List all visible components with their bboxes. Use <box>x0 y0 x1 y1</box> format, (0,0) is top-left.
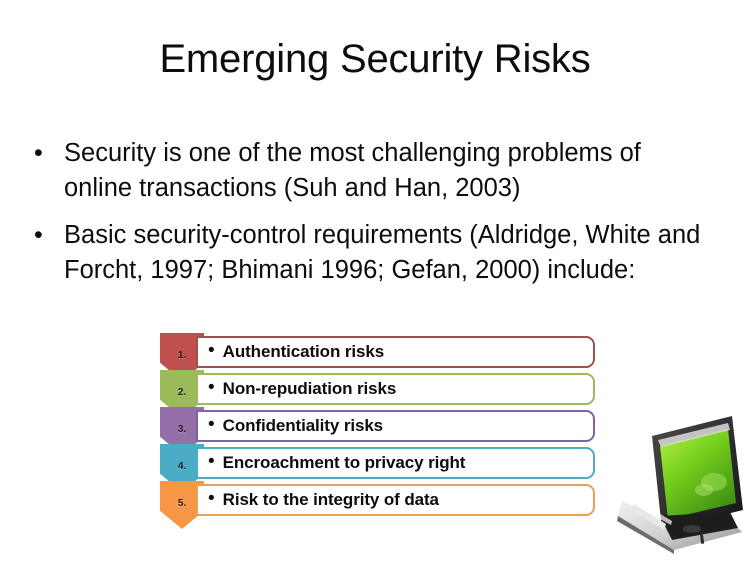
risk-item-box-4: • Encroachment to privacy right <box>196 447 595 479</box>
risk-item-box-2: • Non-repudiation risks <box>196 373 595 405</box>
laptop-computer-image <box>614 404 746 556</box>
risk-row-1: 1. • Authentication risks <box>160 336 600 372</box>
presentation-slide: Emerging Security Risks • Security is on… <box>0 0 750 562</box>
page-title: Emerging Security Risks <box>0 36 750 82</box>
chevron-number-label: 4. <box>178 461 186 472</box>
bullet-marker-icon: • <box>208 378 215 397</box>
chevron-number-label: 3. <box>178 424 186 435</box>
list-item: • Security is one of the most challengin… <box>34 136 710 206</box>
bullet-marker-icon: • <box>208 415 215 434</box>
risk-row-5: 5. • Risk to the integrity of data <box>160 484 600 520</box>
risk-item-label: Authentication risks <box>223 342 384 362</box>
bullet-marker-icon: • <box>34 218 64 252</box>
risk-item-label: Risk to the integrity of data <box>223 490 439 510</box>
bullet-marker-icon: • <box>34 136 64 170</box>
risk-row-3: 3. • Confidentiality risks <box>160 410 600 446</box>
risk-item-box-1: • Authentication risks <box>196 336 595 368</box>
bullet-marker-icon: • <box>208 341 215 360</box>
risk-row-4: 4. • Encroachment to privacy right <box>160 447 600 483</box>
bullet-marker-icon: • <box>208 489 215 508</box>
list-item: • Basic security-control requirements (A… <box>34 218 710 288</box>
bullet-text: Security is one of the most challenging … <box>64 136 710 206</box>
bullet-text: Basic security-control requirements (Ald… <box>64 218 710 288</box>
chevron-number-label: 5. <box>178 498 186 509</box>
risk-item-label: Confidentiality risks <box>223 416 383 436</box>
risk-item-label: Encroachment to privacy right <box>223 453 466 473</box>
chevron-number-label: 2. <box>178 387 186 398</box>
risk-item-box-3: • Confidentiality risks <box>196 410 595 442</box>
bullet-marker-icon: • <box>208 452 215 471</box>
risk-row-2: 2. • Non-repudiation risks <box>160 373 600 409</box>
chevron-number-label: 1. <box>178 350 186 361</box>
bullet-list: • Security is one of the most challengin… <box>34 136 710 300</box>
risk-item-box-5: • Risk to the integrity of data <box>196 484 595 516</box>
risk-item-label: Non-repudiation risks <box>223 379 397 399</box>
risk-chevron-diagram: 1. • Authentication risks 2. • Non-repud… <box>160 336 600 536</box>
